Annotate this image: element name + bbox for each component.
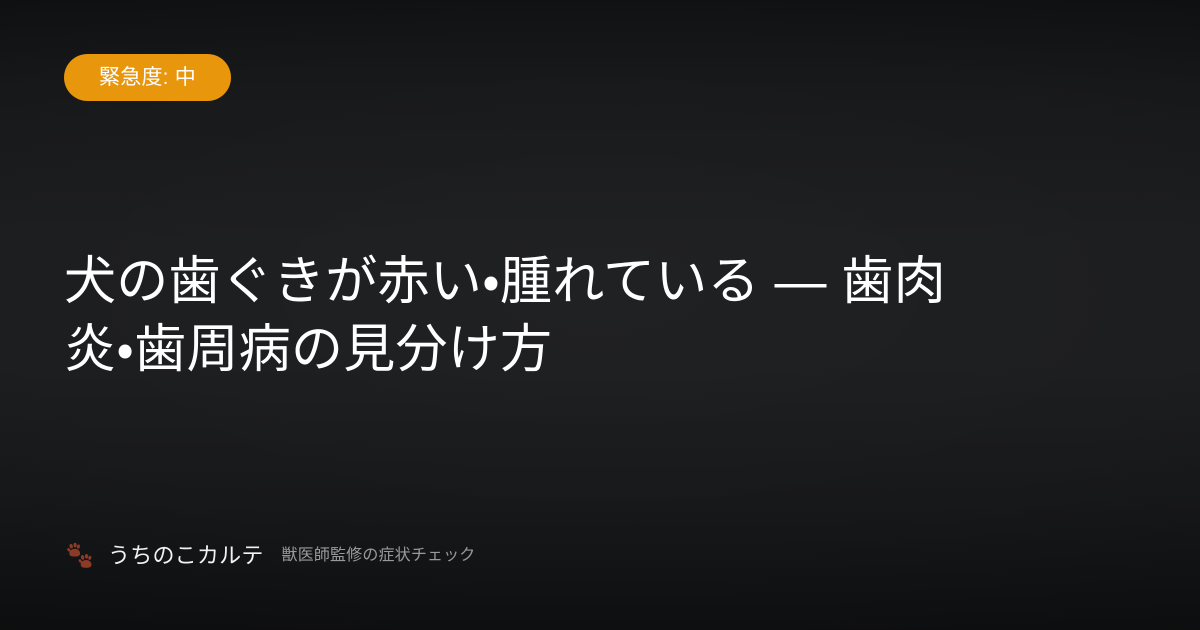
- brand-footer: うちのこカルテ 獣医師監修の症状チェック: [64, 540, 1136, 630]
- headline-block: 犬の歯ぐきが赤い・腫れている — 歯肉炎・歯周病の見分け方: [64, 91, 1136, 540]
- paw-print-icon: [64, 540, 96, 572]
- brand-tagline: 獣医師監修の症状チェック: [282, 548, 476, 564]
- page-title: 犬の歯ぐきが赤い・腫れている — 歯肉炎・歯周病の見分け方: [64, 248, 964, 384]
- brand-name: うちのこカルテ: [108, 545, 264, 567]
- og-card: 緊急度: 中 犬の歯ぐきが赤い・腫れている — 歯肉炎・歯周病の見分け方: [0, 0, 1200, 630]
- page-title-line-1: 犬の歯ぐきが赤い・腫れている — 歯肉: [64, 253, 946, 311]
- page-title-line-2: 炎・歯周病の見分け方: [64, 321, 552, 379]
